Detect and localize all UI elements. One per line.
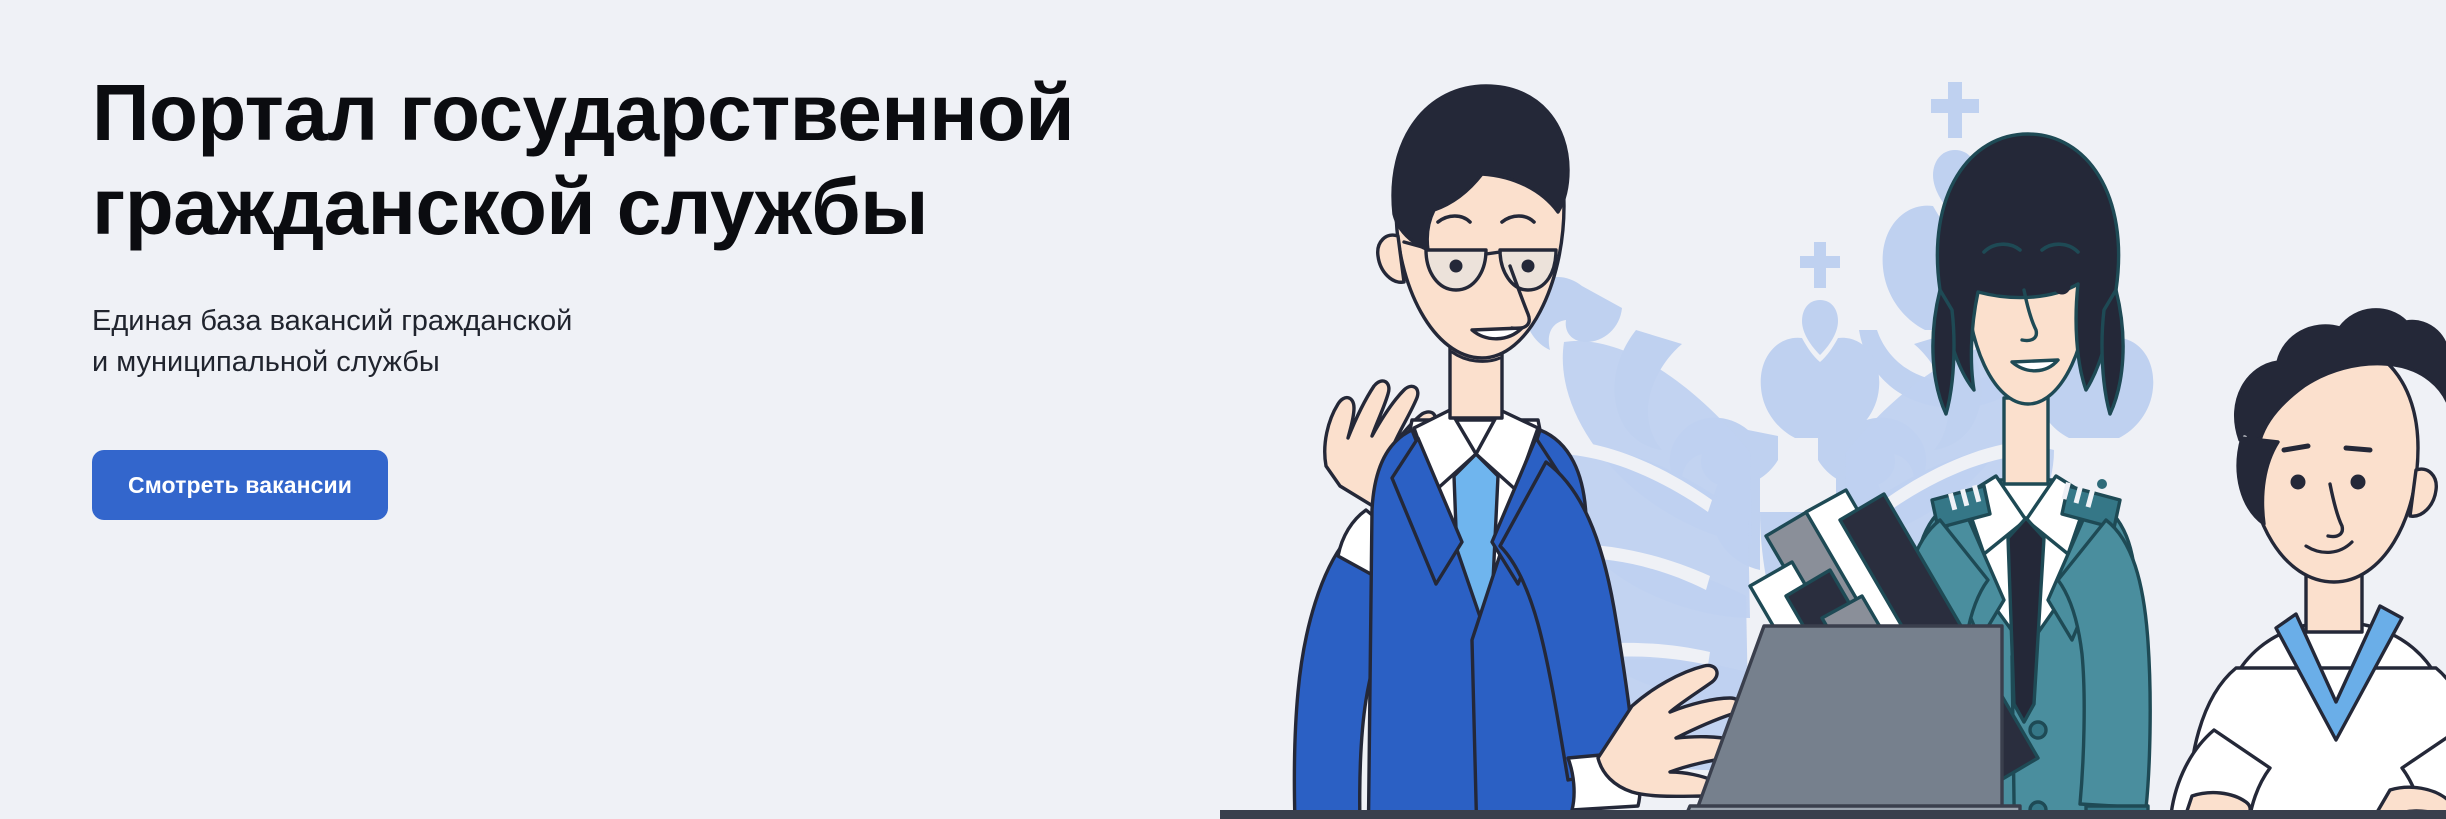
hero-copy: Портал государственной гражданской служб… xyxy=(92,66,1212,520)
view-vacancies-button[interactable]: Смотреть вакансии xyxy=(92,450,388,520)
hero-subtitle: Единая база вакансий гражданской и муниц… xyxy=(92,301,1212,383)
desk-line xyxy=(1220,810,2446,819)
three-civil-servants-illustration xyxy=(1150,0,2446,819)
hero-banner: Портал государственной гражданской служб… xyxy=(0,0,2446,819)
page-title: Портал государственной гражданской служб… xyxy=(92,66,1212,253)
young-man-at-laptop xyxy=(2170,310,2446,819)
